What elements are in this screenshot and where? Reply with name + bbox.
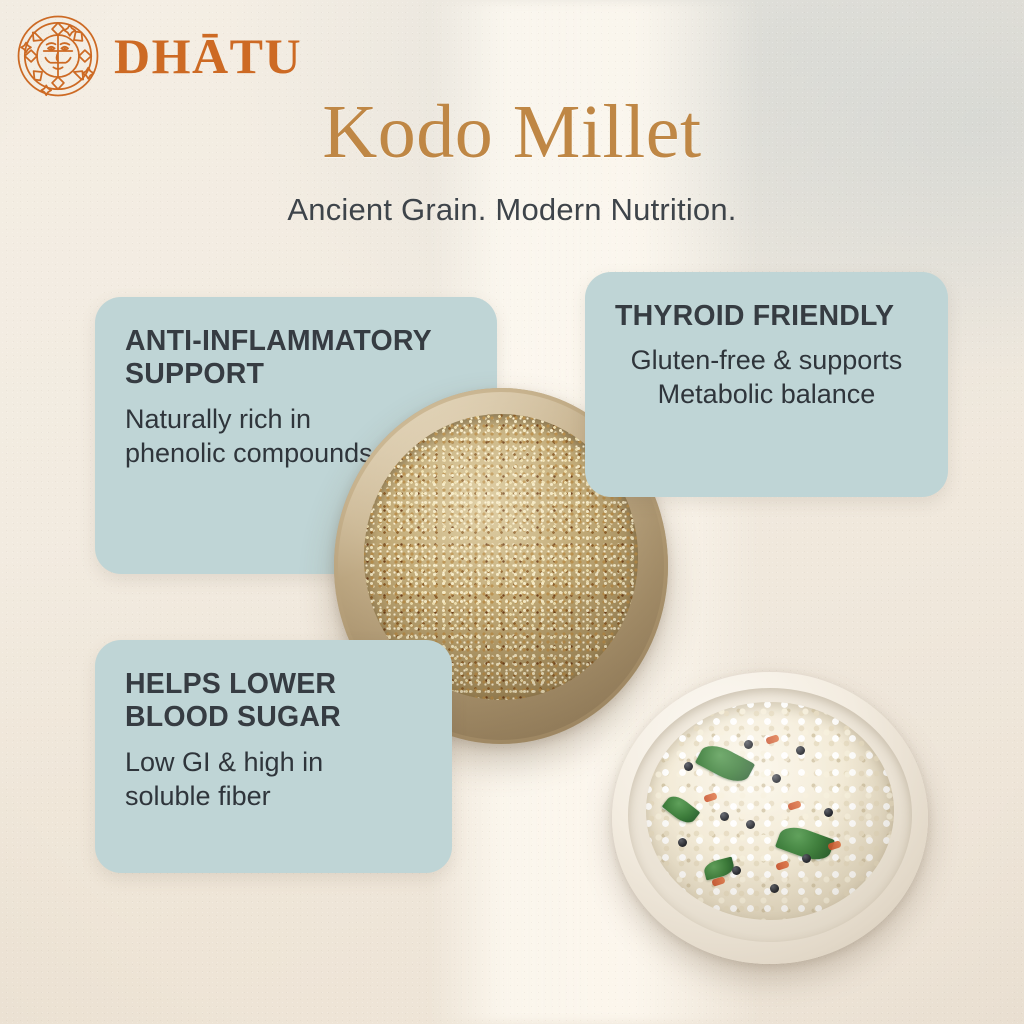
- feature-card-title: HELPS LOWER BLOOD SUGAR: [125, 668, 422, 735]
- feature-card-body: Low GI & high in soluble fiber: [125, 745, 390, 813]
- feature-card-blood-sugar[interactable]: HELPS LOWER BLOOD SUGAR Low GI & high in…: [95, 640, 452, 873]
- feature-card-title: ANTI-INFLAMMATORY SUPPORT: [125, 325, 467, 392]
- feature-card-thyroid-friendly[interactable]: THYROID FRIENDLY Gluten-free & supports …: [585, 272, 948, 497]
- feature-card-body: Naturally rich in phenolic compounds: [125, 402, 375, 470]
- feature-card-title: THYROID FRIENDLY: [615, 300, 918, 333]
- cooked-millet-bowl-image: [612, 672, 928, 964]
- feature-card-body: Gluten-free & supports Metabolic balance: [615, 343, 918, 411]
- cooked-millet-shading: [646, 702, 894, 920]
- poster-canvas: DHĀTU Kodo Millet Ancient Grain. Modern …: [0, 0, 1024, 1024]
- bowl-interior: [646, 702, 894, 920]
